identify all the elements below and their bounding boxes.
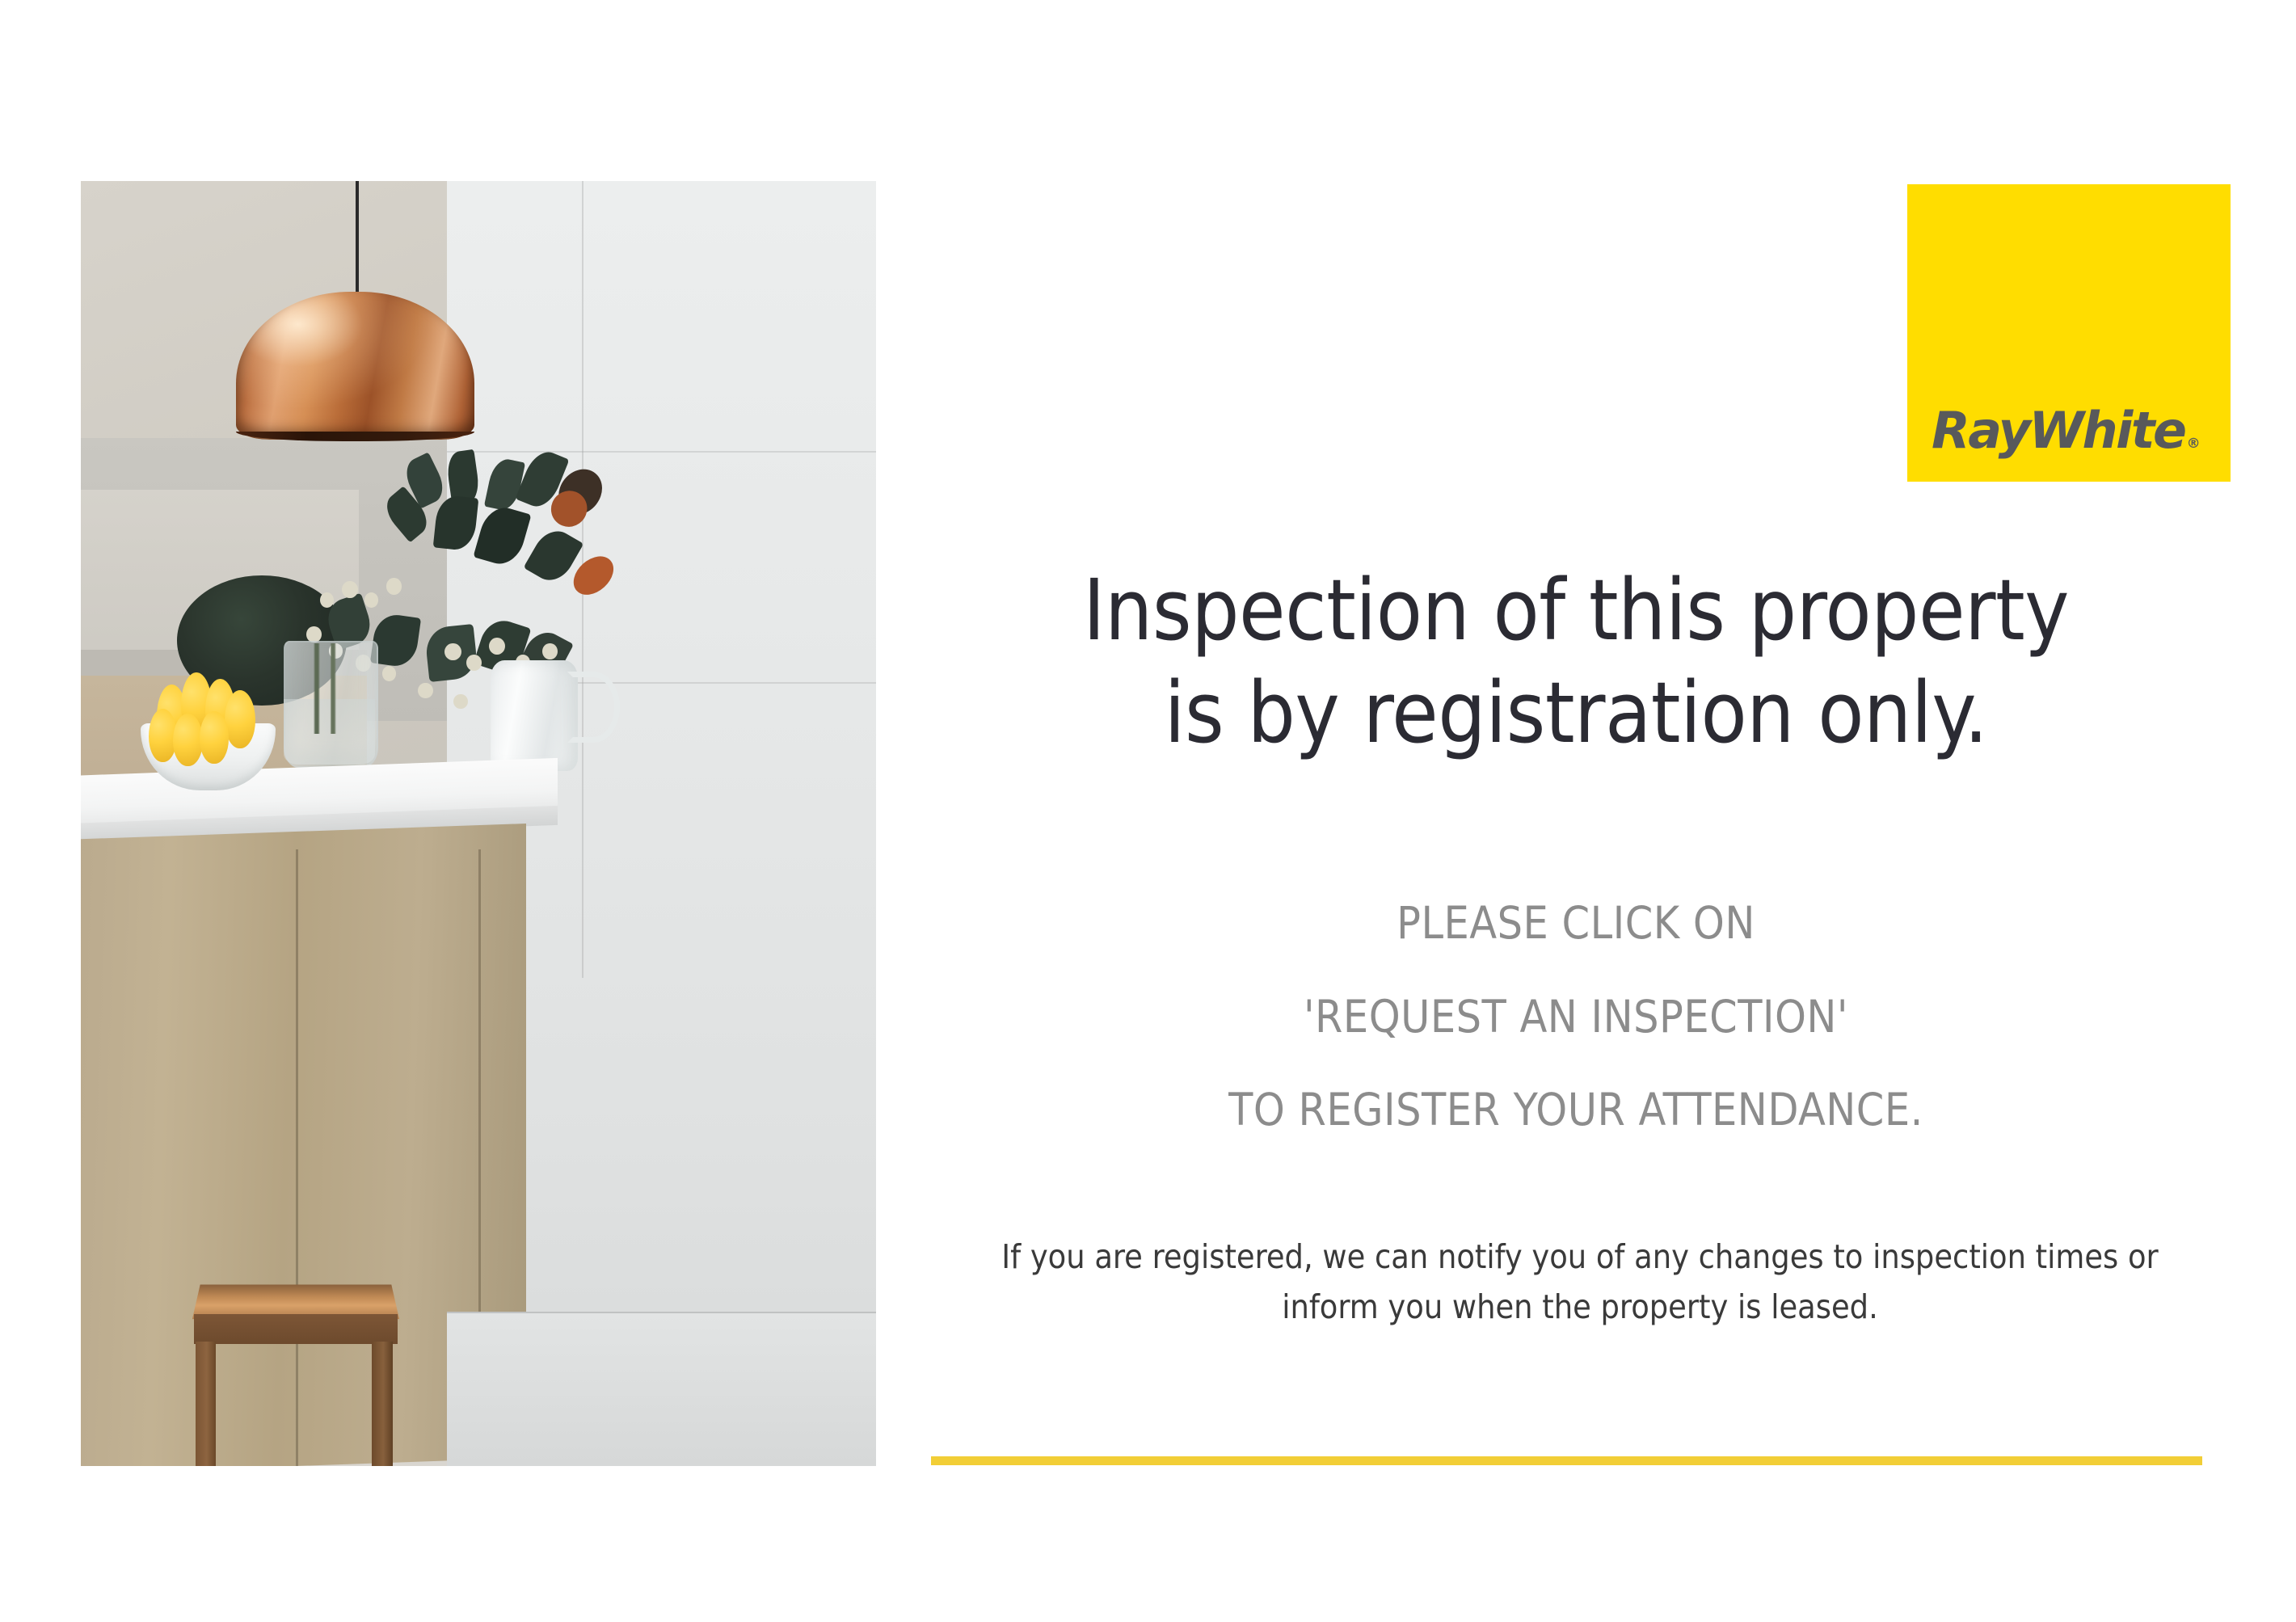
blossom [466,655,482,671]
blossom [542,643,558,659]
floor [447,1312,876,1466]
fineprint-block: If you are registered, we can notify you… [937,1232,2222,1333]
blossom [386,578,402,594]
pendant-cord [356,181,359,303]
fineprint-line-2: inform you when the property is leased. [937,1282,2222,1332]
instructions-block: PLEASE CLICK ON 'REQUEST AN INSPECTION' … [937,877,2214,1157]
blossom [382,666,397,681]
registered-trademark-icon: ® [2187,436,2201,452]
blossom [489,638,505,655]
ceramic-jug [491,660,578,771]
instruction-line-1: PLEASE CLICK ON [937,877,2214,971]
leaf [484,457,525,513]
blossom [364,592,379,608]
wooden-stool-apron [194,1314,398,1344]
instruction-line-3: TO REGISTER YOUR ATTENDANCE. [937,1064,2214,1157]
leaf [433,494,478,551]
jug-handle [567,672,620,742]
leaf [473,503,531,569]
kitchen-interior-photo [81,181,876,1466]
instruction-line-2: 'REQUEST AN INSPECTION' [937,971,2214,1064]
lemon [200,711,228,763]
flower-stems [304,643,352,733]
yellow-divider-rule [931,1456,2202,1465]
wooden-stool-leg-left [196,1342,217,1466]
ray-white-logo: RayWhite® [1907,184,2231,482]
blossom [453,694,468,709]
headline-line-1: Inspection of this property [1083,561,2069,659]
ray-white-wordmark-text: RayWhite [1932,401,2185,460]
wooden-stool-leg-right [372,1342,393,1466]
flyer-page: RayWhite® Inspection of this property is… [0,0,2296,1622]
headline-line-2: is by registration only. [1165,664,1988,762]
lemon [225,690,255,749]
blossom [418,683,433,699]
page-title: Inspection of this property is by regist… [937,559,2214,765]
blossom [306,626,322,642]
fineprint-line-1: If you are registered, we can notify you… [937,1232,2222,1282]
ray-white-wordmark: RayWhite® [1932,406,2201,456]
lemon [173,714,203,765]
floor-seam [447,1312,876,1313]
island-panel-seam [296,849,298,1466]
blossom [444,643,461,661]
